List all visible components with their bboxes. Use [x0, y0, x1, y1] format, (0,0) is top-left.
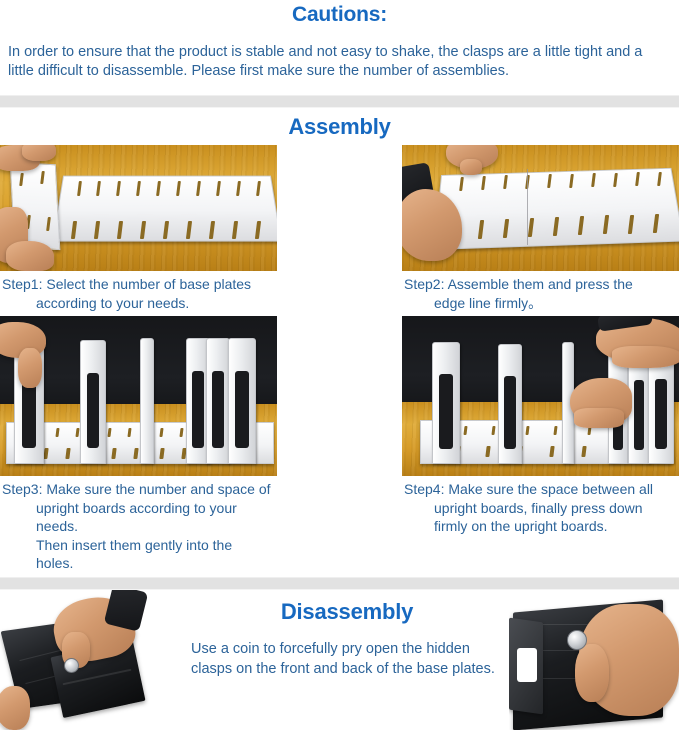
step4-caption: Step4: Make sure the space between all u… [402, 476, 679, 577]
step2-photo [402, 145, 679, 271]
step3-photo [0, 316, 277, 476]
step4-photo [402, 316, 679, 476]
cautions-body-text: In order to ensure that the product is s… [6, 43, 673, 81]
coin-left [64, 658, 79, 673]
disassembly-photo-right [509, 590, 679, 730]
disassembly-title: Disassembly [185, 598, 509, 626]
step1-caption: Step1: Select the number of base plates … [0, 271, 277, 316]
step3-caption-line2: upright boards according to your needs. [2, 499, 273, 536]
section-divider-top [0, 95, 679, 108]
assembly-gutter-row4 [277, 476, 402, 577]
step3-caption-line3: Then insert them gently into the holes. [2, 536, 273, 573]
disassembly-body-text: Use a coin to forcefully pry open the hi… [185, 640, 509, 679]
step1-caption-line1: Step1: Select the number of base plates [2, 276, 251, 292]
step1-caption-line2: according to your needs. [2, 294, 273, 313]
step4-caption-line3: firmly on the upright boards. [404, 517, 675, 536]
step2-caption-line2: edge line firmly。 [404, 294, 675, 313]
assembly-steps-grid: Step1: Select the number of base plates … [0, 145, 679, 577]
step2-caption: Step2: Assemble them and press the edge … [402, 271, 679, 316]
step4-caption-line1: Step4: Make sure the space between all [404, 481, 653, 497]
assembly-section: Assembly [0, 108, 679, 577]
step3-caption-line1: Step3: Make sure the number and space of [2, 481, 271, 497]
assembly-gutter-row1 [277, 145, 402, 271]
disassembly-text-block: Disassembly Use a coin to forcefully pry… [185, 590, 509, 730]
assembly-title: Assembly [0, 108, 679, 145]
disassembly-photo-left [0, 590, 185, 730]
step3-caption: Step3: Make sure the number and space of… [0, 476, 277, 577]
cautions-section: Cautions: In order to ensure that the pr… [0, 0, 679, 81]
step1-photo [0, 145, 277, 271]
disassembly-section: Disassembly Use a coin to forcefully pry… [0, 590, 679, 730]
step2-caption-line1: Step2: Assemble them and press the [404, 276, 633, 292]
assembly-gutter-row2 [277, 271, 402, 316]
step4-caption-line2: upright boards, finally press down [404, 499, 675, 518]
assembly-gutter-row3 [277, 316, 402, 476]
coin-right [567, 630, 587, 650]
section-divider-bottom [0, 577, 679, 590]
cautions-title: Cautions: [6, 2, 673, 28]
